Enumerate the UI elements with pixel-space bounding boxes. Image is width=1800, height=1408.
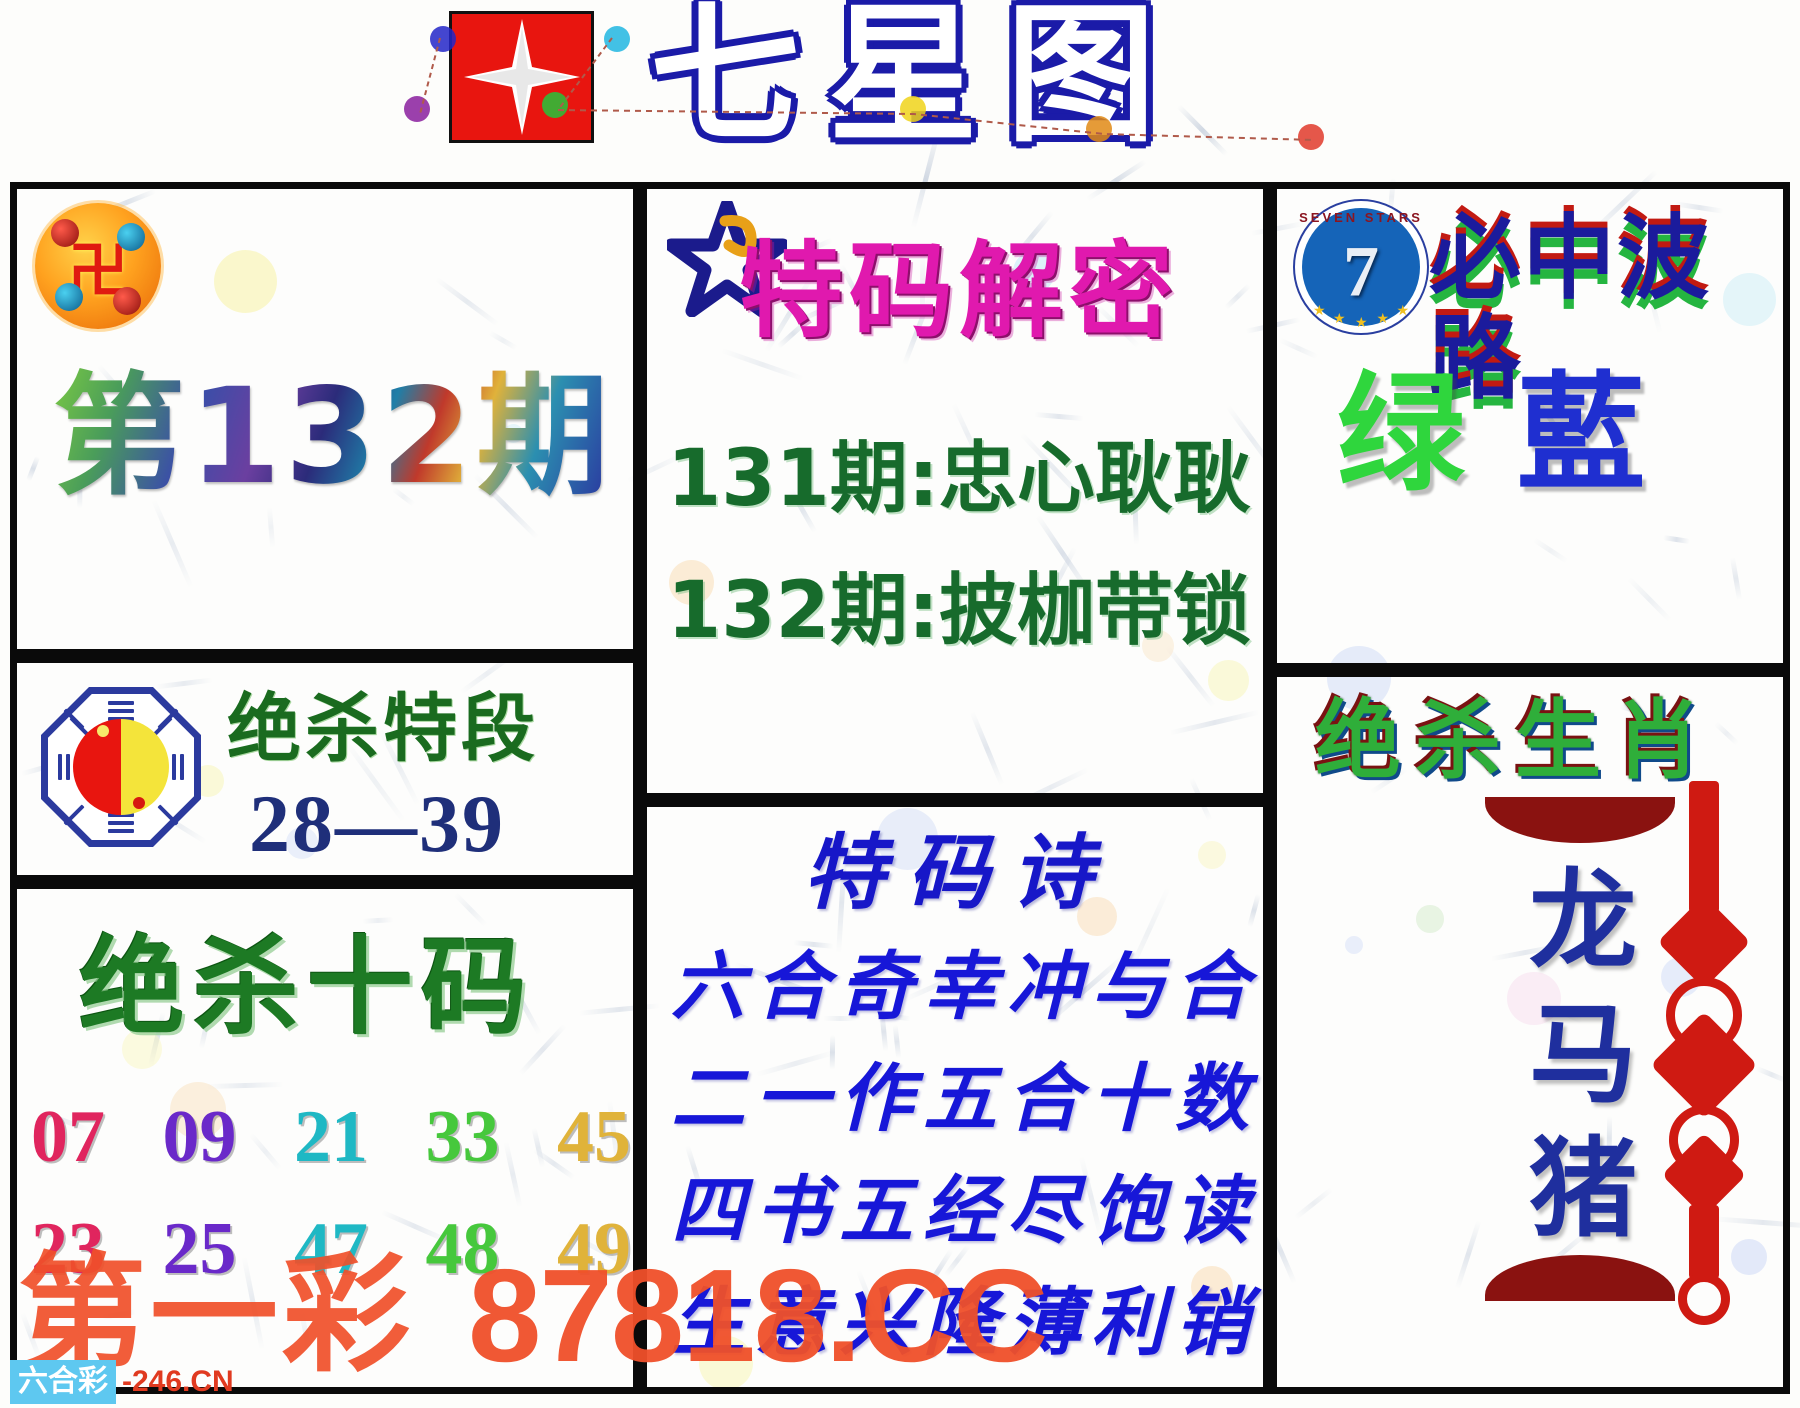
wave-colors: 绿藍 (1337, 367, 1697, 503)
zodiac-animals: 龙马猪 (1509, 855, 1657, 1257)
seven-stars-text: SEVEN STARS (1295, 210, 1427, 225)
footer-badge: 六合彩 (10, 1360, 116, 1404)
poem-line-2: 二一作五合十数 (671, 1059, 1259, 1141)
decode-line-1: 131期:忠心耿耿 (667, 437, 1251, 521)
panel-wave: SEVEN STARS 7 ★ ★ ★ ★ ★ 必中波路 绿藍 (1270, 182, 1790, 670)
kill-number: 07 (31, 1097, 105, 1177)
zodiac-animal: 龙 (1509, 855, 1657, 989)
zodiac-animal: 猪 (1509, 1123, 1657, 1257)
wave-color-1: 绿 (1337, 360, 1517, 509)
seven-number: 7 (1343, 231, 1379, 314)
seven-stars-logo: SEVEN STARS 7 ★ ★ ★ ★ ★ (1293, 199, 1429, 335)
kill-ten-row-1: 0709213345 (31, 1097, 631, 1177)
zodiac-plaque-top (1485, 797, 1675, 843)
wave-title-char: 波 (1617, 209, 1711, 309)
kill-range-value: 28—39 (249, 781, 505, 867)
kill-number: 45 (557, 1097, 631, 1177)
kill-ten-title: 绝杀十码 (79, 933, 535, 1043)
chinese-knot-icon (1659, 781, 1749, 1301)
period-label: 第132期 (53, 367, 613, 507)
panel-period: 卍 第132期 (10, 182, 640, 656)
panel-zodiac: 绝杀生肖 龙马猪 (1270, 670, 1790, 1394)
zodiac-animal: 马 (1509, 989, 1657, 1123)
panel-grid: 卍 第132期 (10, 182, 1790, 1394)
watermark-site-number: 87818.CC (468, 1248, 1046, 1384)
zodiac-plaque-bottom (1485, 1255, 1675, 1301)
footer-site: -246.CN (122, 1362, 234, 1402)
bagua-yinyang-icon (41, 687, 201, 847)
poster-header: 七星图 (0, 0, 1800, 168)
wave-title-char: 必 (1429, 209, 1523, 309)
kill-number: 21 (294, 1097, 368, 1177)
kill-number: 09 (163, 1097, 237, 1177)
wave-color-2: 藍 (1517, 360, 1697, 509)
panel-kill-range: 绝杀特段 28—39 (10, 656, 640, 882)
poster-root: 七星图 卍 第132期 (0, 0, 1800, 1408)
poem-line-1: 六合奇幸冲与合 (671, 947, 1259, 1029)
poem-title: 特码诗 (803, 829, 1115, 919)
decode-title: 特码解密 (739, 237, 1179, 345)
orange-swastika-emblem: 卍 (35, 203, 161, 329)
kill-range-title: 绝杀特段 (227, 689, 539, 769)
panel-decode: 特码解密 131期:忠心耿耿 132期:披枷带锁 (640, 182, 1270, 800)
zodiac-title: 绝杀生肖 (1315, 695, 1715, 787)
watermark-footer: 六合彩 -246.CN (10, 1360, 234, 1404)
kill-number: 33 (426, 1097, 500, 1177)
decode-line-2: 132期:披枷带锁 (667, 569, 1251, 653)
poem-line-3: 四书五经尽饱读 (671, 1171, 1259, 1253)
wave-title-char: 中 (1523, 209, 1617, 309)
